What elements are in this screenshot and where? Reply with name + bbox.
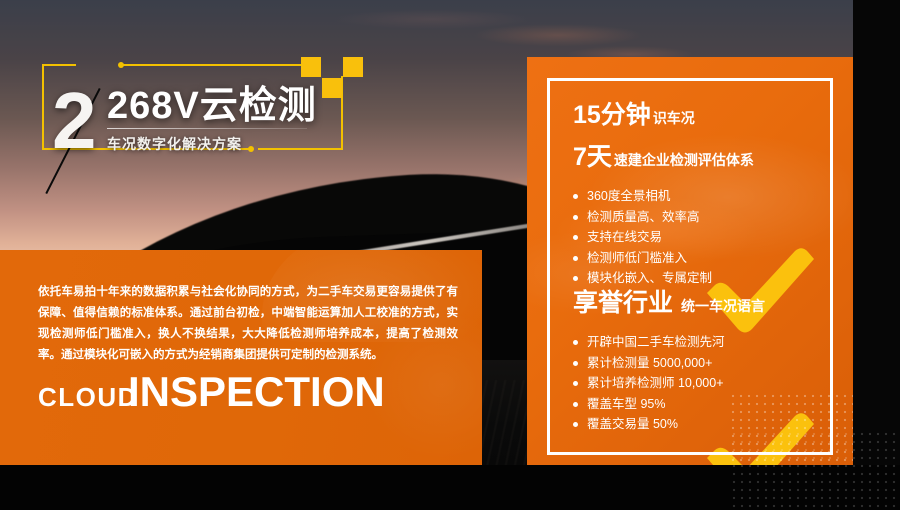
frame-top-dot <box>118 62 124 68</box>
slide-canvas: 2 268V云检测 车况数字化解决方案 依托车易拍十年来的数据积累与社会化协同的… <box>0 0 900 510</box>
title-divider <box>107 128 307 129</box>
description-block: 依托车易拍十年来的数据积累与社会化协同的方式，为二手车交易更容易提供了有保障、值… <box>0 250 482 465</box>
brand-word-cloud: CLOUD <box>38 382 138 413</box>
panel-inner-border <box>547 78 833 455</box>
frame-left-edge <box>42 64 44 150</box>
page-title: 268V云检测 <box>107 84 317 128</box>
checker-square-middle <box>322 78 342 98</box>
frame-top-right-segment <box>122 64 302 66</box>
checker-square-top-right <box>343 57 363 77</box>
frame-top-left-segment <box>42 64 76 66</box>
page-subtitle: 车况数字化解决方案 <box>107 134 242 154</box>
title-frame: 2 268V云检测 车况数字化解决方案 <box>0 0 520 250</box>
right-dark-strip <box>853 0 900 510</box>
frame-bottom-right-segment <box>258 148 343 150</box>
highlights-panel: 15分钟识车况 7天速建企业检测评估体系 360度全景相机检测质量高、效率高支持… <box>527 57 853 470</box>
description-paragraph: 依托车易拍十年来的数据积累与社会化协同的方式，为二手车交易更容易提供了有保障、值… <box>38 282 458 366</box>
section-number: 2 <box>52 82 95 160</box>
brand-word-inspection: INSPECTION <box>128 368 385 416</box>
bottom-dark-bar <box>0 465 900 510</box>
checker-square-top-left <box>301 57 321 77</box>
frame-bottom-dot <box>248 146 254 152</box>
